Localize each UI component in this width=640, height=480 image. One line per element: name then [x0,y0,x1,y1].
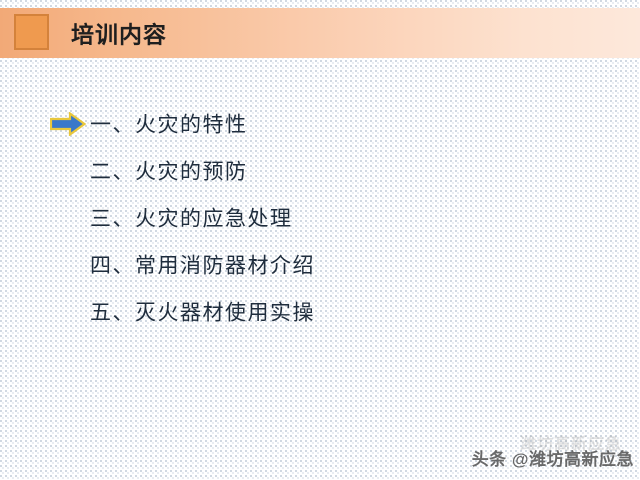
training-contents-list: 一、火灾的特性 二、火灾的预防 三、火灾的应急处理 四、常用消防器材介绍 五、灭… [0,100,640,335]
list-item[interactable]: 二、火灾的预防 [0,147,640,194]
watermark: 头条 @潍坊高新应急 [472,445,634,470]
list-item[interactable]: 一、火灾的特性 [0,100,640,147]
list-item[interactable]: 三、火灾的应急处理 [0,194,640,241]
list-item-label: 一、火灾的特性 [90,108,248,138]
list-item-label: 五、灭火器材使用实操 [90,296,315,326]
list-item[interactable]: 五、灭火器材使用实操 [0,288,640,335]
list-item-label: 三、火灾的应急处理 [90,202,293,232]
bullet-placeholder [50,206,86,230]
list-item-label: 四、常用消防器材介绍 [90,249,315,279]
orange-square-icon [14,14,49,50]
bullet-placeholder [50,253,86,277]
bullet-placeholder [50,159,86,183]
list-item[interactable]: 四、常用消防器材介绍 [0,241,640,288]
page-title: 培训内容 [71,15,167,49]
bullet-placeholder [50,300,86,324]
slide-canvas: 培训内容 一、火灾的特性 二、火灾的预防 三、火灾的应急处理 四、常用消防器材介… [0,0,640,480]
slide-header-band: 培训内容 [0,8,640,58]
blue-right-arrow-icon [50,112,86,136]
list-item-label: 二、火灾的预防 [90,155,248,185]
